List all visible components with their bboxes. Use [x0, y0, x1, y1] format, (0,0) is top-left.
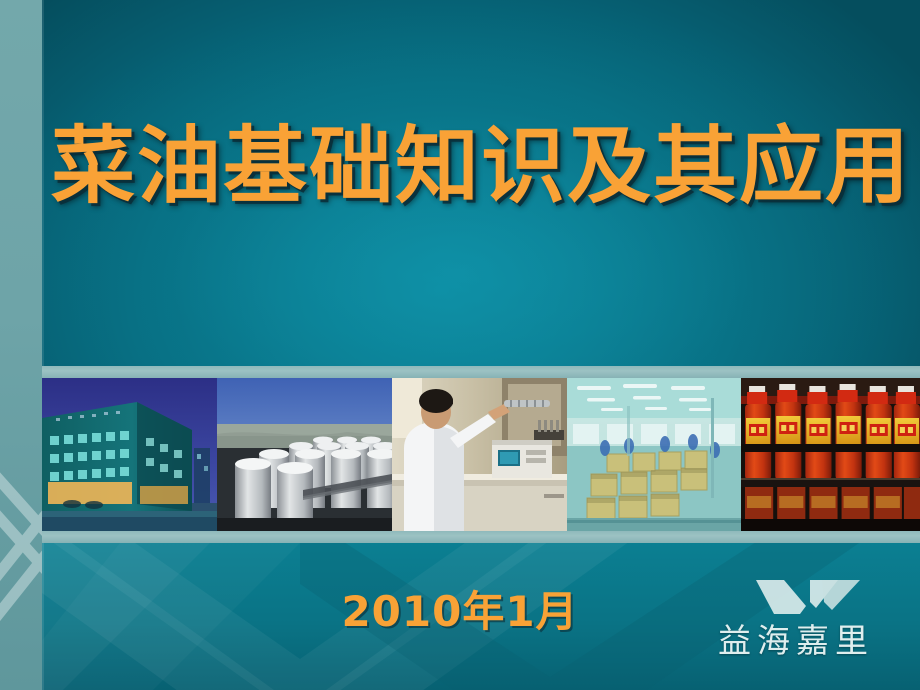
slide-title: 菜油基础知识及其应用 — [42, 124, 920, 208]
retail-shelf-photo — [741, 378, 920, 531]
storage-tanks-photo — [217, 378, 392, 531]
cross-lines-watermark — [0, 452, 42, 690]
photo-strip-top-separator — [42, 366, 920, 378]
photo-strip — [42, 378, 920, 531]
presentation-title-slide: 菜油基础知识及其应用 — [0, 0, 920, 690]
yihai-kerry-bird-mark-icon — [754, 576, 862, 616]
company-logo: 益海嘉里 — [698, 576, 894, 664]
office-building-photo — [42, 378, 217, 531]
photo-strip-bottom-separator — [42, 531, 920, 543]
lab-technician-photo — [392, 378, 567, 531]
production-line-photo — [567, 378, 741, 531]
company-logo-text: 益海嘉里 — [698, 614, 894, 662]
